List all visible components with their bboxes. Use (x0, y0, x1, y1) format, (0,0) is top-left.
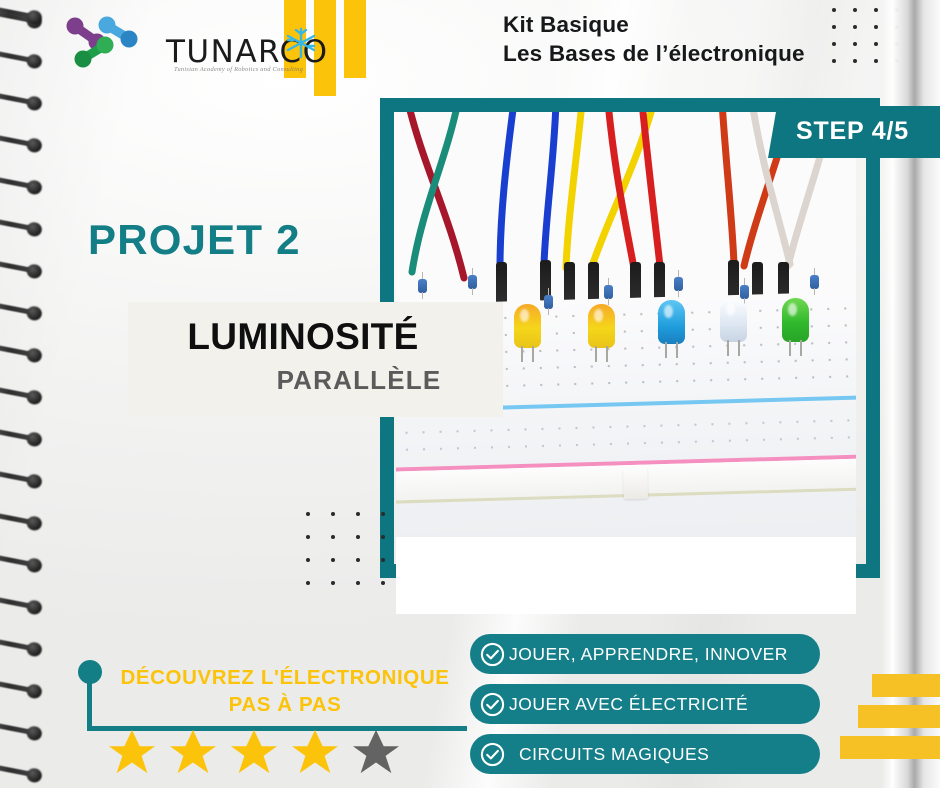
callout-line2: PAS À PAS (102, 691, 468, 718)
spiral-ring (0, 128, 54, 154)
dot-grid-middle (306, 512, 406, 604)
spiral-ring (0, 44, 54, 70)
spiral-ring (0, 548, 54, 574)
spiral-ring (0, 716, 54, 742)
kit-header-line2: Les Bases de l’électronique (503, 39, 805, 68)
step-badge: STEP 4/5 (768, 106, 940, 158)
decor-bottom-yellow-bars (830, 674, 940, 766)
resistor (674, 272, 683, 296)
kit-header-line1: Kit Basique (503, 10, 805, 39)
feature-pill-label: JOUER, APPRENDRE, INNOVER (509, 644, 788, 665)
led-yellow-2 (588, 304, 615, 348)
spiral-ring (0, 674, 54, 700)
rating-stars (108, 728, 400, 776)
molecule-nodes-icon (62, 14, 162, 74)
page-eyebrow: PROJET 2 (88, 216, 301, 264)
project-title: LUMINOSITÉ (128, 316, 478, 358)
spiral-ring (0, 758, 54, 784)
snowflake-icon (284, 26, 318, 60)
check-circle-icon (480, 742, 505, 767)
led-blue (658, 300, 685, 344)
led-white (720, 298, 747, 342)
resistor (544, 290, 553, 314)
yellow-bar (344, 0, 366, 78)
project-title-card: LUMINOSITÉ PARALLÈLE (128, 302, 503, 417)
callout-line1: DÉCOUVREZ L'ÉLECTRONIQUE (102, 664, 468, 691)
wire-connector (496, 262, 507, 304)
spiral-ring (0, 422, 54, 448)
feature-pill[interactable]: JOUER AVEC ÉLECTRICITÉ (470, 684, 820, 724)
spiral-ring (0, 338, 54, 364)
led-yellow-1 (514, 304, 541, 348)
brand-logo[interactable]: TUNARCO Tunisian Academy of Robotics and… (62, 14, 262, 76)
resistor (468, 270, 477, 294)
kit-header: Kit Basique Les Bases de l’électronique (503, 10, 805, 69)
feature-pill[interactable]: JOUER, APPRENDRE, INNOVER (470, 634, 820, 674)
poster-canvas: TUNARCO Tunisian Academy of Robotics and… (0, 0, 940, 788)
wire-connector (564, 262, 575, 304)
star-filled-icon (230, 728, 278, 776)
spiral-ring (0, 506, 54, 532)
notebook-spiral-binding (0, 0, 76, 788)
spiral-ring (0, 632, 54, 658)
resistor (418, 274, 427, 298)
callout-vertical-rule (87, 678, 92, 731)
wire-connector (588, 262, 599, 304)
feature-pill[interactable]: CIRCUITS MAGIQUES (470, 734, 820, 774)
spiral-ring (0, 254, 54, 280)
led-green (782, 298, 809, 342)
feature-pill-label: CIRCUITS MAGIQUES (519, 744, 709, 765)
spiral-ring (0, 212, 54, 238)
resistor (604, 280, 613, 304)
star-filled-icon (291, 728, 339, 776)
resistor (810, 270, 819, 294)
star-filled-icon (108, 728, 156, 776)
feature-pill-label: JOUER AVEC ÉLECTRICITÉ (509, 694, 748, 715)
spiral-ring (0, 380, 54, 406)
feature-pill-list: JOUER, APPRENDRE, INNOVER JOUER AVEC ÉLE… (470, 634, 820, 784)
breadboard-clip (623, 468, 648, 500)
star-filled-icon (169, 728, 217, 776)
check-circle-icon (480, 692, 505, 717)
spiral-ring (0, 590, 54, 616)
spiral-ring (0, 296, 54, 322)
spiral-ring (0, 170, 54, 196)
yellow-bar (840, 736, 940, 759)
check-circle-icon (480, 642, 505, 667)
yellow-bar (858, 705, 940, 728)
step-badge-label: STEP 4/5 (796, 117, 909, 146)
logo-tagline: Tunisian Academy of Robotics and Consult… (174, 66, 303, 73)
project-subtitle: PARALLÈLE (128, 365, 478, 396)
star-empty-icon (352, 728, 400, 776)
spiral-ring (0, 86, 54, 112)
yellow-bar (872, 674, 940, 697)
spiral-ring (0, 464, 54, 490)
